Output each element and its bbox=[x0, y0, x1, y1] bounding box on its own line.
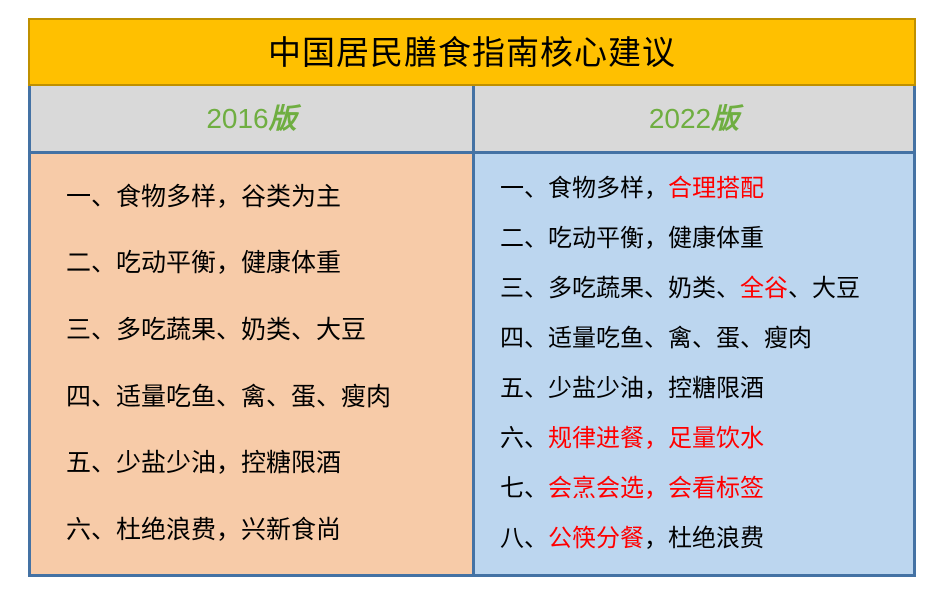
column-header-2022-year: 2022 bbox=[649, 103, 711, 134]
recommendation-item: 八、公筷分餐，杜绝浪费 bbox=[475, 526, 913, 552]
recommendation-number: 五、 bbox=[66, 449, 116, 477]
recommendation-item: 三、多吃蔬果、奶类、全谷、大豆 bbox=[475, 276, 913, 302]
recommendation-text: 食物多样， bbox=[548, 175, 668, 202]
recommendation-number: 六、 bbox=[500, 425, 548, 452]
recommendation-item: 二、吃动平衡，健康体重 bbox=[475, 226, 913, 252]
recommendation-text-highlighted: 合理搭配 bbox=[668, 175, 764, 202]
recommendation-text: 吃动平衡，健康体重 bbox=[116, 249, 341, 277]
recommendation-text: 、大豆 bbox=[788, 275, 860, 302]
recommendation-text: 多吃蔬果、奶类、大豆 bbox=[116, 316, 366, 344]
column-header-2016: 2016版 bbox=[31, 86, 475, 151]
recommendation-item: 七、会烹会选，会看标签 bbox=[475, 476, 913, 502]
recommendation-number: 二、 bbox=[500, 225, 548, 252]
column-header-2016-label: 2016版 bbox=[206, 105, 296, 133]
recommendation-item: 一、食物多样，合理搭配 bbox=[475, 176, 913, 202]
dietary-guideline-table: 中国居民膳食指南核心建议 2016版 2022版 一、食物多样，谷类为主二、吃动… bbox=[28, 18, 916, 577]
recommendation-text: 多吃蔬果、奶类、 bbox=[548, 275, 740, 302]
recommendation-number: 六、 bbox=[66, 516, 116, 544]
column-header-2016-year: 2016 bbox=[206, 103, 268, 134]
recommendation-item: 五、少盐少油，控糖限酒 bbox=[31, 450, 472, 478]
recommendation-text-highlighted: 全谷 bbox=[740, 275, 788, 302]
recommendation-item: 四、适量吃鱼、禽、蛋、瘦肉 bbox=[475, 326, 913, 352]
recommendation-text: 少盐少油，控糖限酒 bbox=[116, 449, 341, 477]
page-title: 中国居民膳食指南核心建议 bbox=[268, 36, 676, 69]
recommendation-number: 二、 bbox=[66, 249, 116, 277]
column-body-2016: 一、食物多样，谷类为主二、吃动平衡，健康体重三、多吃蔬果、奶类、大豆四、适量吃鱼… bbox=[31, 154, 475, 574]
recommendation-number: 三、 bbox=[66, 316, 116, 344]
column-header-2022: 2022版 bbox=[475, 86, 913, 151]
recommendation-number: 一、 bbox=[500, 175, 548, 202]
column-header-2016-suffix: 版 bbox=[269, 102, 297, 135]
table-title-bar: 中国居民膳食指南核心建议 bbox=[28, 18, 916, 86]
recommendation-item: 三、多吃蔬果、奶类、大豆 bbox=[31, 317, 472, 345]
recommendation-number: 五、 bbox=[500, 375, 548, 402]
recommendation-text: 食物多样，谷类为主 bbox=[116, 183, 341, 211]
recommendation-number: 四、 bbox=[500, 325, 548, 352]
table-header-row: 2016版 2022版 bbox=[28, 86, 916, 154]
recommendation-text: 适量吃鱼、禽、蛋、瘦肉 bbox=[116, 383, 391, 411]
recommendation-text: ，杜绝浪费 bbox=[644, 525, 764, 552]
recommendation-text-highlighted: 会烹会选，会看标签 bbox=[548, 475, 764, 502]
recommendation-item: 四、适量吃鱼、禽、蛋、瘦肉 bbox=[31, 384, 472, 412]
recommendation-number: 一、 bbox=[66, 183, 116, 211]
recommendation-item: 六、规律进餐，足量饮水 bbox=[475, 426, 913, 452]
recommendation-text-highlighted: 公筷分餐 bbox=[548, 525, 644, 552]
recommendation-item: 一、食物多样，谷类为主 bbox=[31, 184, 472, 212]
recommendation-item: 六、杜绝浪费，兴新食尚 bbox=[31, 517, 472, 545]
recommendation-text: 适量吃鱼、禽、蛋、瘦肉 bbox=[548, 325, 812, 352]
recommendation-number: 三、 bbox=[500, 275, 548, 302]
recommendation-text: 少盐少油，控糖限酒 bbox=[548, 375, 764, 402]
table-body-row: 一、食物多样，谷类为主二、吃动平衡，健康体重三、多吃蔬果、奶类、大豆四、适量吃鱼… bbox=[28, 154, 916, 577]
recommendation-number: 四、 bbox=[66, 383, 116, 411]
recommendation-text: 吃动平衡，健康体重 bbox=[548, 225, 764, 252]
recommendation-text: 杜绝浪费，兴新食尚 bbox=[116, 516, 341, 544]
recommendation-item: 五、少盐少油，控糖限酒 bbox=[475, 376, 913, 402]
recommendation-number: 八、 bbox=[500, 525, 548, 552]
column-header-2022-label: 2022版 bbox=[649, 105, 739, 133]
column-header-2022-suffix: 版 bbox=[711, 102, 739, 135]
recommendation-number: 七、 bbox=[500, 475, 548, 502]
column-body-2022: 一、食物多样，合理搭配二、吃动平衡，健康体重三、多吃蔬果、奶类、全谷、大豆四、适… bbox=[475, 154, 913, 574]
recommendation-text-highlighted: 规律进餐，足量饮水 bbox=[548, 425, 764, 452]
recommendation-item: 二、吃动平衡，健康体重 bbox=[31, 250, 472, 278]
